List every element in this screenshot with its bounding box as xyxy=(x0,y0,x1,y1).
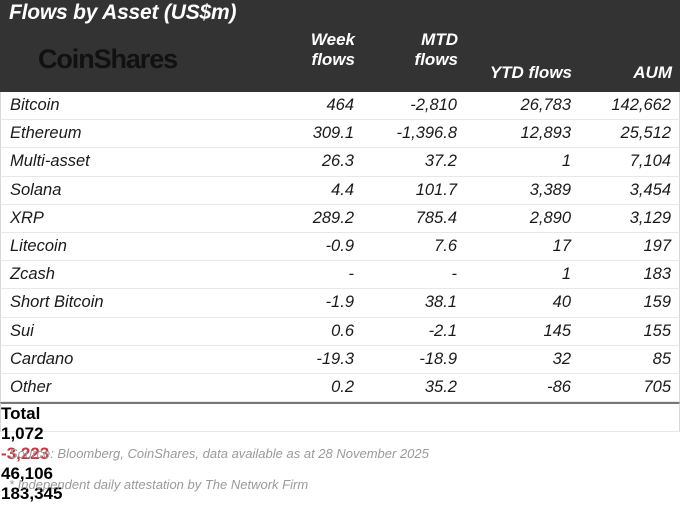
cell-mtd-flows: 7.6 xyxy=(327,237,457,256)
cell-mtd-flows: -2.1 xyxy=(327,322,457,341)
table-row: Litecoin-0.97.617197 xyxy=(0,233,680,261)
cell-mtd-flows: 37.2 xyxy=(327,152,457,171)
cell-aum: 142,662 xyxy=(541,96,671,115)
cell-aum: 197 xyxy=(541,237,671,256)
asset-name: Other xyxy=(10,378,51,397)
column-header-mtd-line1: MTD xyxy=(338,30,458,50)
cell-mtd-flows: -18.9 xyxy=(327,350,457,369)
cell-mtd-flows: 38.1 xyxy=(327,293,457,312)
table-row: Short Bitcoin-1.938.140159 xyxy=(0,289,680,317)
column-header-week-line2: flows xyxy=(235,50,355,70)
asset-name: Short Bitcoin xyxy=(10,293,104,312)
table-row: Ethereum309.1-1,396.812,89325,512 xyxy=(0,120,680,148)
cell-mtd-flows: 101.7 xyxy=(327,181,457,200)
table-row: Bitcoin464-2,81026,783142,662 xyxy=(0,92,680,120)
table-row: Sui0.6-2.1145155 xyxy=(0,318,680,346)
note-source: Source: Bloomberg, CoinShares, data avai… xyxy=(0,437,680,461)
footnotes: Source: Bloomberg, CoinShares, data avai… xyxy=(0,437,680,492)
table-row: XRP289.2785.42,8903,129 xyxy=(0,205,680,233)
flows-by-asset-card: Flows by Asset (US$m) CoinShares Week fl… xyxy=(0,0,680,519)
flows-table-body: Bitcoin464-2,81026,783142,662Ethereum309… xyxy=(0,92,680,432)
cell-aum: 7,104 xyxy=(541,152,671,171)
cell-aum: 85 xyxy=(541,350,671,369)
cell-mtd-flows: -2,810 xyxy=(327,96,457,115)
column-header-week-flows: Week flows xyxy=(235,30,355,70)
asset-name: Multi-asset xyxy=(10,152,90,171)
asset-name: Ethereum xyxy=(10,124,82,143)
table-row-total: Total1,072-3,22346,106183,345 xyxy=(0,402,680,432)
page-title: Flows by Asset (US$m) xyxy=(9,1,236,25)
cell-aum: 183 xyxy=(541,265,671,284)
asset-name: Solana xyxy=(10,181,61,200)
asset-name: Sui xyxy=(10,322,34,341)
cell-aum: 25,512 xyxy=(541,124,671,143)
table-row: Multi-asset26.337.217,104 xyxy=(0,148,680,176)
cell-mtd-flows: 785.4 xyxy=(327,209,457,228)
table-row: Other0.235.2-86705 xyxy=(0,374,680,402)
cell-aum: 3,454 xyxy=(541,181,671,200)
table-row: Zcash--1183 xyxy=(0,261,680,289)
table-row: Cardano-19.3-18.93285 xyxy=(0,346,680,374)
asset-name: Bitcoin xyxy=(10,96,60,115)
note-attestation: * Independent daily attestation by The N… xyxy=(0,461,680,492)
asset-name: Litecoin xyxy=(10,237,67,256)
cell-mtd-flows: - xyxy=(327,265,457,284)
cell-aum: 155 xyxy=(541,322,671,341)
asset-name: Cardano xyxy=(10,350,73,369)
column-header-ytd-flows: YTD flows xyxy=(412,63,572,83)
cell-aum: 705 xyxy=(541,378,671,397)
asset-name: Zcash xyxy=(10,265,55,284)
table-row: Solana4.4101.73,3893,454 xyxy=(0,177,680,205)
column-header-aum: AUM xyxy=(552,63,672,83)
column-header-week-line1: Week xyxy=(235,30,355,50)
table-header: Flows by Asset (US$m) CoinShares Week fl… xyxy=(0,0,680,92)
asset-name: Total xyxy=(1,404,679,424)
cell-aum: 3,129 xyxy=(541,209,671,228)
coinshares-logo: CoinShares xyxy=(38,44,177,75)
asset-name: XRP xyxy=(10,209,44,228)
cell-aum: 159 xyxy=(541,293,671,312)
cell-mtd-flows: 35.2 xyxy=(327,378,457,397)
cell-mtd-flows: -1,396.8 xyxy=(327,124,457,143)
